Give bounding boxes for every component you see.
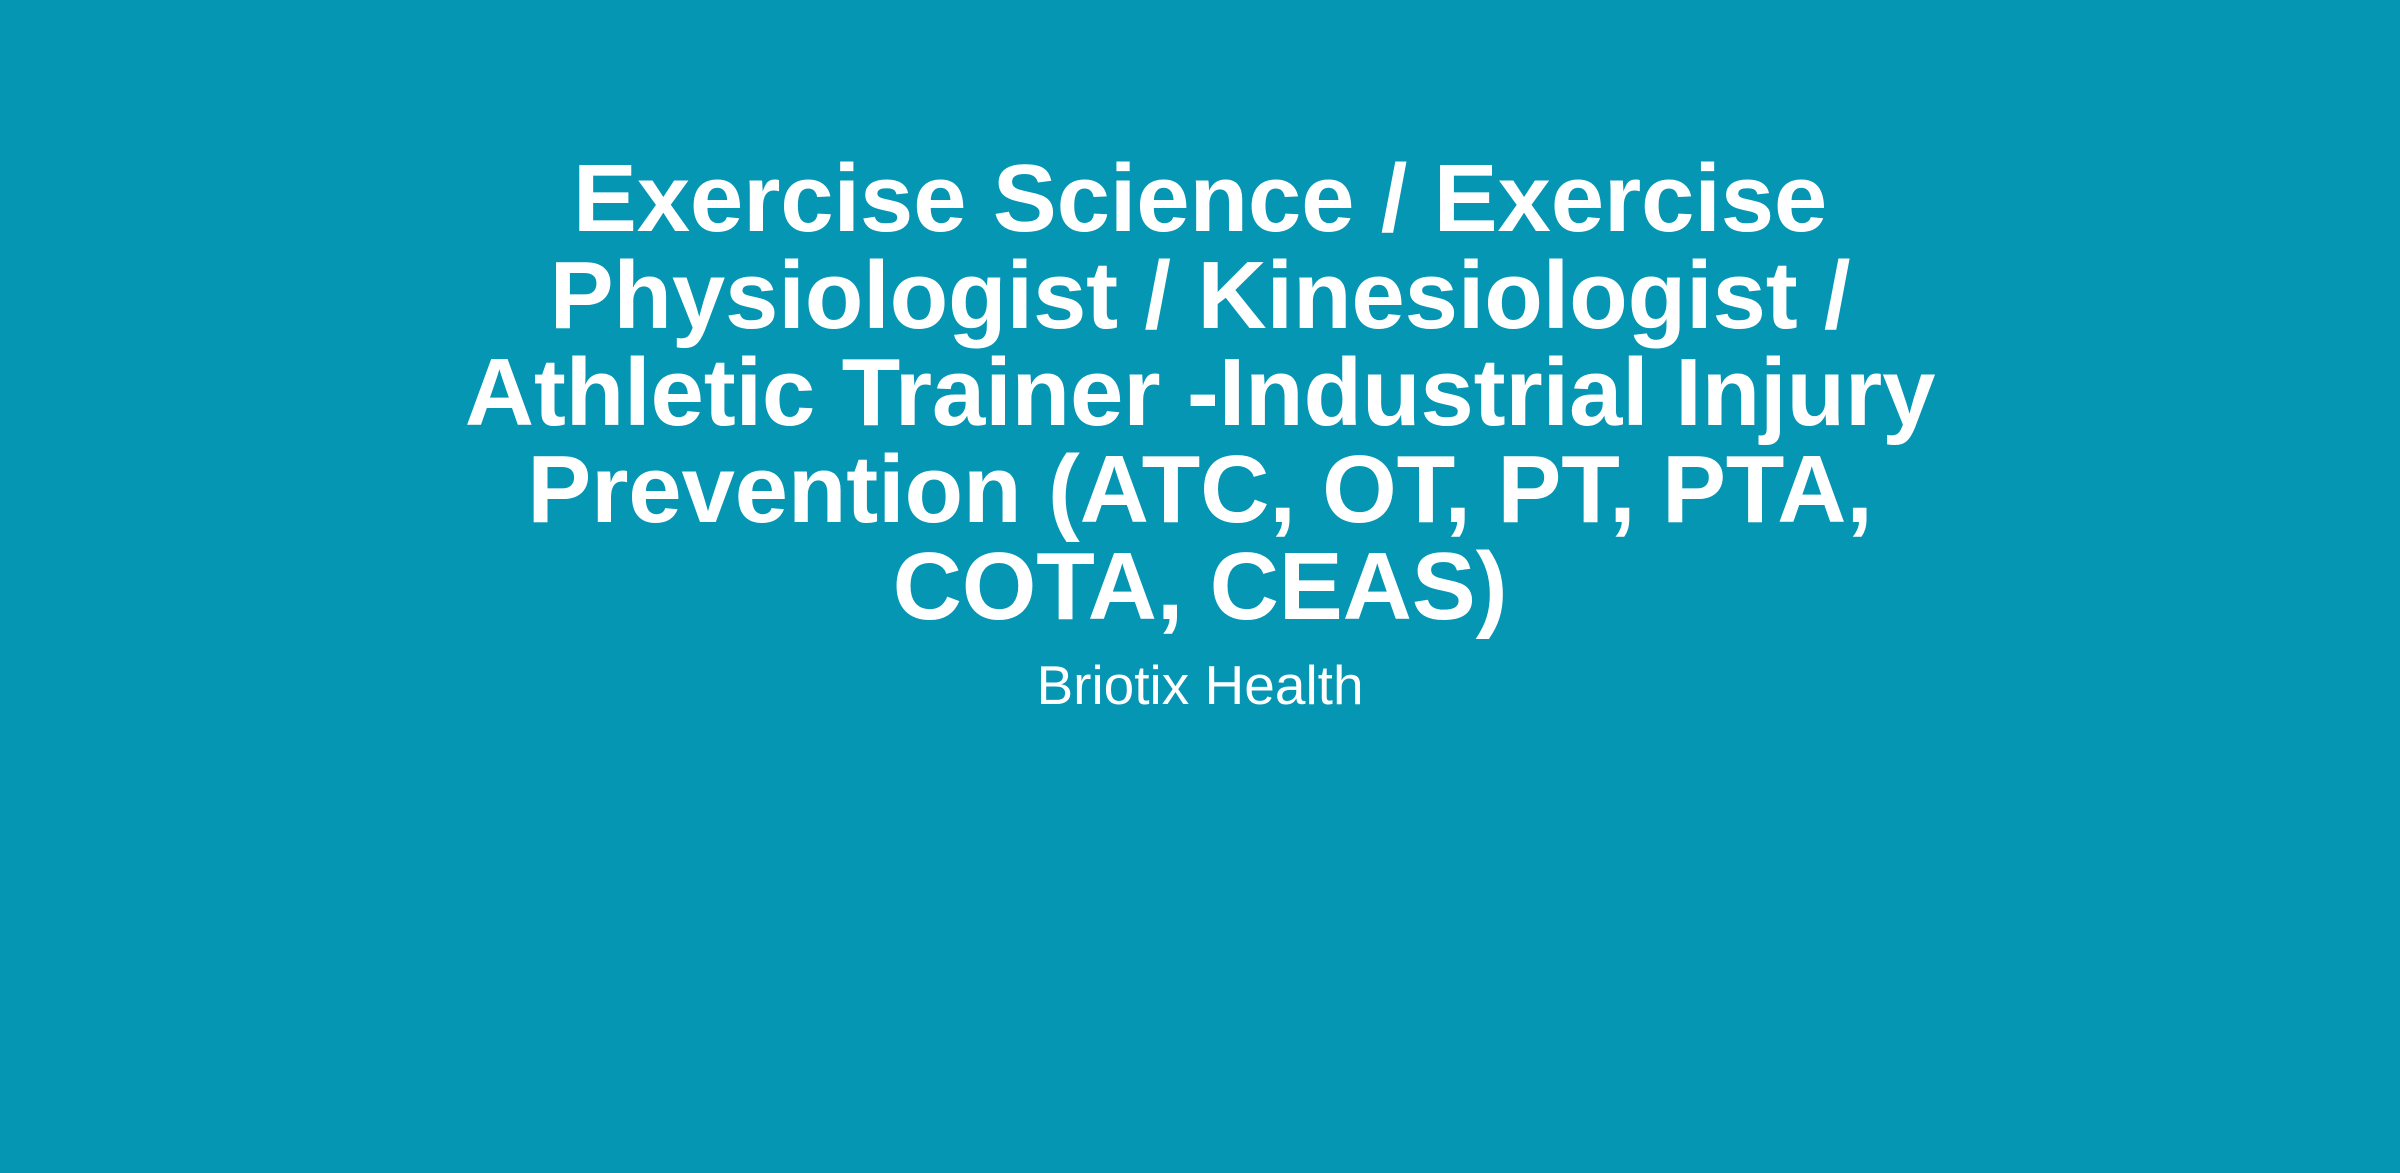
company-name: Briotix Health [1036,651,1363,719]
page-title: Exercise Science / Exercise Physiologist… [378,150,2023,635]
job-posting-card: Exercise Science / Exercise Physiologist… [0,0,2400,1173]
job-posting-card-content: Exercise Science / Exercise Physiologist… [370,150,2030,719]
